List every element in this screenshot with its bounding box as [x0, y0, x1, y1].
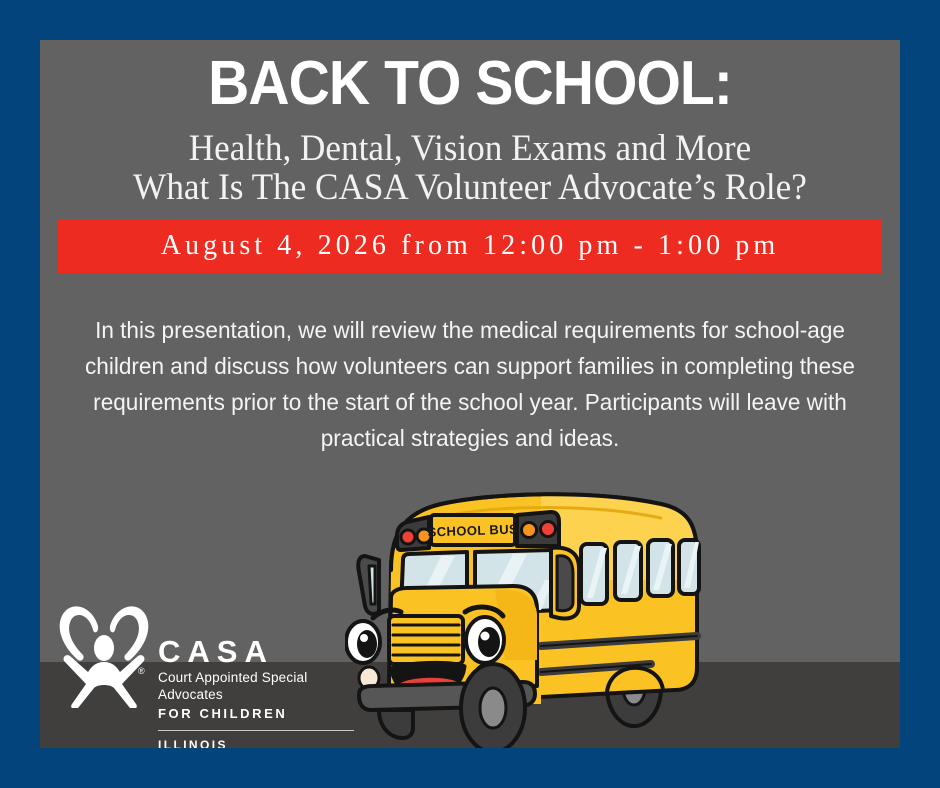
subtitle-line-2: What Is The CASA Volunteer Advocate’s Ro…	[62, 167, 879, 209]
subtitle-line-1: Health, Dental, Vision Exams and More	[62, 128, 879, 170]
date-time-banner: August 4, 2026 from 12:00 pm - 1:00 pm	[58, 219, 882, 273]
page-title: BACK TO SCHOOL:	[74, 50, 865, 118]
flyer-canvas: BACK TO SCHOOL: Health, Dental, Vision E…	[0, 0, 940, 788]
registered-trademark-icon: ®	[138, 666, 145, 676]
casa-audience: FOR CHILDREN	[158, 706, 358, 722]
casa-wordmark: CASA	[158, 636, 358, 668]
casa-logo: ® CASA Court Appointed Special Advocates…	[58, 592, 358, 748]
body-paragraph: In this presentation, we will review the…	[80, 312, 860, 456]
bus-sign-text: SCHOOL BUS	[427, 521, 518, 539]
date-time-text: August 4, 2026 from 12:00 pm - 1:00 pm	[161, 230, 780, 262]
logo-divider	[158, 730, 354, 731]
casa-logo-text: CASA Court Appointed Special Advocates F…	[158, 636, 358, 748]
flyer-panel: BACK TO SCHOOL: Health, Dental, Vision E…	[40, 40, 900, 748]
casa-state: ILLINOIS	[158, 738, 358, 748]
casa-tagline: Court Appointed Special Advocates	[158, 669, 358, 703]
casa-heart-child-icon	[58, 592, 150, 708]
school-bus-illustration: SCHOOL BUS	[345, 460, 725, 748]
